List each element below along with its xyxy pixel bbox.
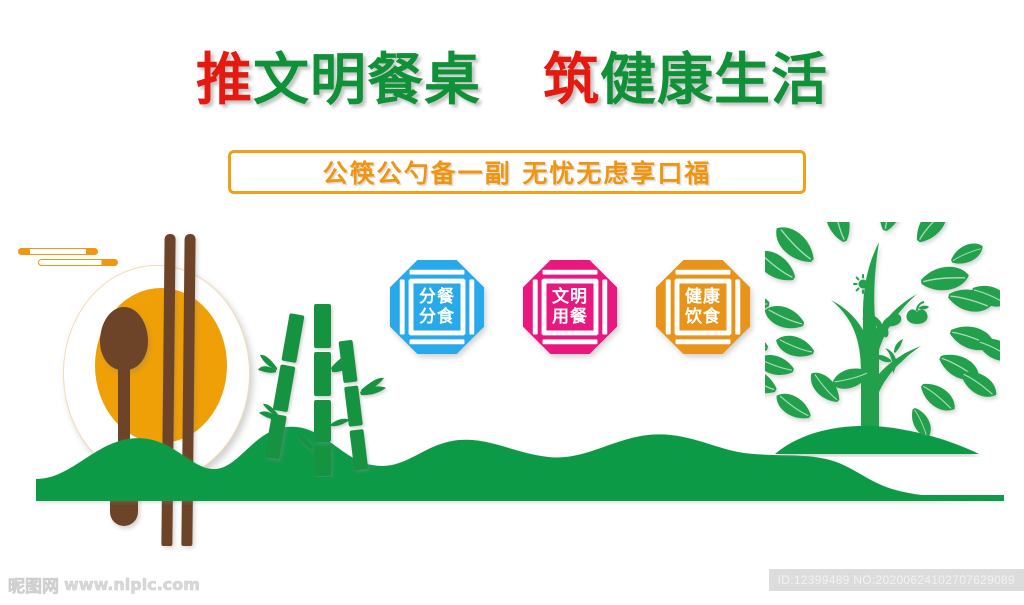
decorative-line-1 [18, 248, 98, 255]
octagon-frame-2 [521, 258, 619, 356]
title-lead-char-2: 筑 [543, 48, 600, 113]
decorative-lines [18, 248, 118, 274]
watermark-id: ID:12399489 NO:20200624102707629089 [769, 569, 1024, 591]
title-lead-char-1: 推 [196, 48, 253, 113]
watermark-brand-cn: 昵图网 [8, 572, 59, 597]
title-rest-2: 健康生活 [600, 48, 828, 113]
poster-title: 推文明餐桌 筑健康生活 [0, 45, 1024, 117]
badge-fencan-fenshi[interactable]: 分餐 分食 [388, 258, 486, 356]
badge-wenming-yongcan[interactable]: 文明 用餐 [521, 258, 619, 356]
poster-canvas: 推文明餐桌 筑健康生活 公筷公勺备一副 无忧无虑享口福 [0, 0, 1024, 605]
octagon-frame-3 [654, 258, 752, 356]
decorative-line-2 [38, 259, 118, 266]
badge-jiankang-yinshi[interactable]: 健康 饮食 [654, 258, 752, 356]
tree-illustration [765, 222, 1000, 457]
bamboo-illustration [258, 292, 398, 477]
apple-icon [906, 302, 929, 324]
watermark-brand: 昵图网 www.nipic.com [8, 572, 200, 596]
subtitle-box: 公筷公勺备一副 无忧无虑享口福 [228, 150, 806, 194]
title-phrase-2: 筑健康生活 [543, 51, 828, 111]
title-phrase-1: 推文明餐桌 [196, 51, 481, 111]
subtitle-text: 公筷公勺备一副 无忧无虑享口福 [323, 154, 712, 190]
spoon-bowl-icon [100, 307, 148, 370]
octagon-frame-1 [388, 258, 486, 356]
sun-icon [854, 275, 872, 293]
watermark-site-url: www.nipic.com [64, 575, 200, 594]
title-rest-1: 文明餐桌 [253, 48, 481, 113]
